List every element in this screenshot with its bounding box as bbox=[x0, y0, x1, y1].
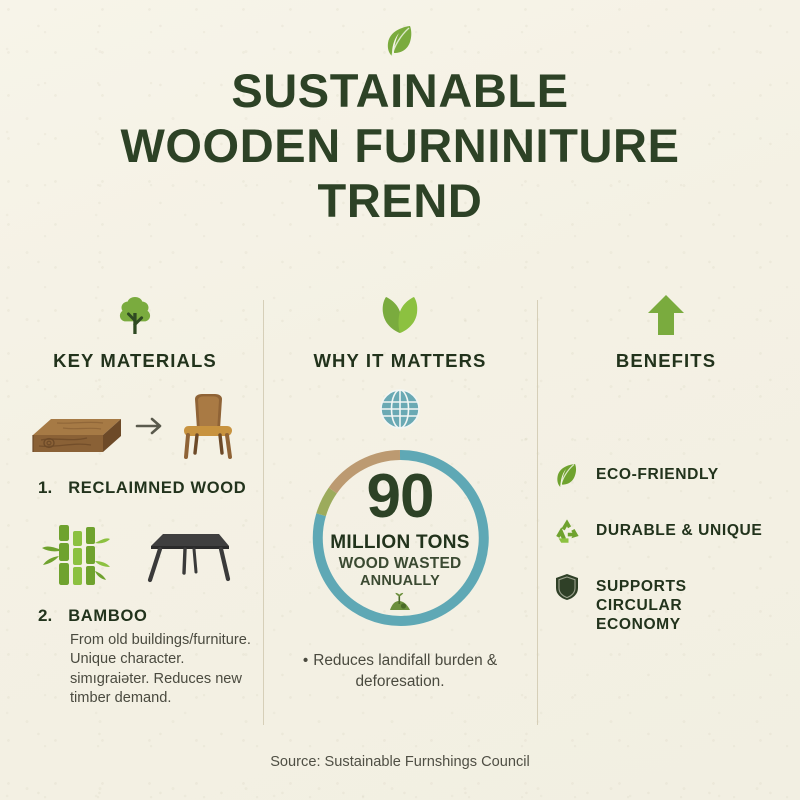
column-divider-left bbox=[263, 300, 264, 725]
arrow-right-icon bbox=[135, 416, 165, 441]
bamboo-icon bbox=[37, 519, 115, 596]
donut-label-2: WOOD WASTED bbox=[339, 555, 462, 573]
benefit-label-durable-unique: DURABLE & UNIQUE bbox=[596, 518, 762, 540]
material-description-2: From old buildings/furniture. Unique cha… bbox=[10, 631, 260, 709]
title-line-1: SUSTAINABLE bbox=[0, 64, 800, 119]
table-icon bbox=[137, 524, 233, 591]
material-row-1: 1. RECLAIMNED WOOD bbox=[10, 478, 260, 498]
title-line-2: WOODEN FURNINITURE bbox=[0, 119, 800, 174]
globe-icon bbox=[379, 388, 421, 435]
benefit-item-circular-economy: SUPPORTS CIRCULAR ECONOMY bbox=[554, 574, 792, 634]
arrow-up-icon bbox=[540, 292, 792, 338]
bullet-dot: • bbox=[303, 652, 308, 669]
title-line-3: TREND bbox=[0, 174, 800, 229]
column-divider-right bbox=[537, 300, 538, 725]
leaf-icon bbox=[385, 24, 415, 63]
recycle-icon bbox=[554, 518, 580, 544]
column-key-materials: KEY MATERIALS bbox=[10, 292, 260, 709]
chair-icon bbox=[175, 391, 241, 466]
material-art-bamboo bbox=[10, 520, 260, 594]
column-benefits: BENEFITS ECO-FRIENDLY bbox=[540, 292, 792, 664]
benefits-list: ECO-FRIENDLY bbox=[540, 462, 792, 634]
leaf-icon bbox=[554, 462, 580, 488]
donut-label-3: ANNUALLY bbox=[360, 573, 440, 589]
source-credit: Source: Sustainable Furnshings Council bbox=[0, 754, 800, 770]
column-heading-benefits: BENEFITS bbox=[540, 350, 792, 372]
column-why-it-matters: WHY IT MATTERS bbox=[268, 292, 532, 692]
why-it-matters-bullet: •Reduces landifall burden & deforesation… bbox=[268, 651, 532, 692]
wood-beam-icon bbox=[29, 395, 125, 462]
material-name-1: RECLAIMNED WOOD bbox=[68, 479, 246, 498]
benefit-label-eco-friendly: ECO-FRIENDLY bbox=[596, 462, 719, 484]
globe-icon-wrapper bbox=[268, 388, 532, 435]
shield-icon bbox=[554, 574, 580, 600]
benefit-item-durable-unique: DURABLE & UNIQUE bbox=[554, 518, 792, 544]
donut-value: 90 bbox=[367, 468, 434, 527]
donut-label-1: MILLION TONS bbox=[330, 532, 469, 554]
column-heading-why-it-matters: WHY IT MATTERS bbox=[268, 350, 532, 372]
donut-chart: 90 MILLION TONS WOOD WASTED ANNUALLY bbox=[268, 445, 532, 631]
tree-icon bbox=[10, 292, 260, 338]
infographic-poster: SUSTAINABLE WOODEN FURNINITURE TREND KEY… bbox=[0, 0, 800, 800]
benefit-item-eco-friendly: ECO-FRIENDLY bbox=[554, 462, 792, 488]
column-heading-key-materials: KEY MATERIALS bbox=[10, 350, 260, 372]
material-art-reclaimed-wood bbox=[10, 390, 260, 466]
benefit-label-circular-economy: SUPPORTS CIRCULAR ECONOMY bbox=[596, 574, 766, 634]
two-leaves-icon bbox=[268, 292, 532, 338]
bullet-text: Reduces landifall burden & deforesation. bbox=[313, 652, 497, 690]
material-name-2: BAMBOO bbox=[68, 607, 147, 626]
hill-tree-icon bbox=[388, 592, 412, 612]
material-number-1: 1. bbox=[38, 478, 52, 498]
material-number-2: 2. bbox=[38, 606, 52, 626]
page-title: SUSTAINABLE WOODEN FURNINITURE TREND bbox=[0, 64, 800, 229]
top-leaf-decoration bbox=[0, 24, 800, 63]
material-row-2: 2. BAMBOO bbox=[10, 606, 260, 626]
